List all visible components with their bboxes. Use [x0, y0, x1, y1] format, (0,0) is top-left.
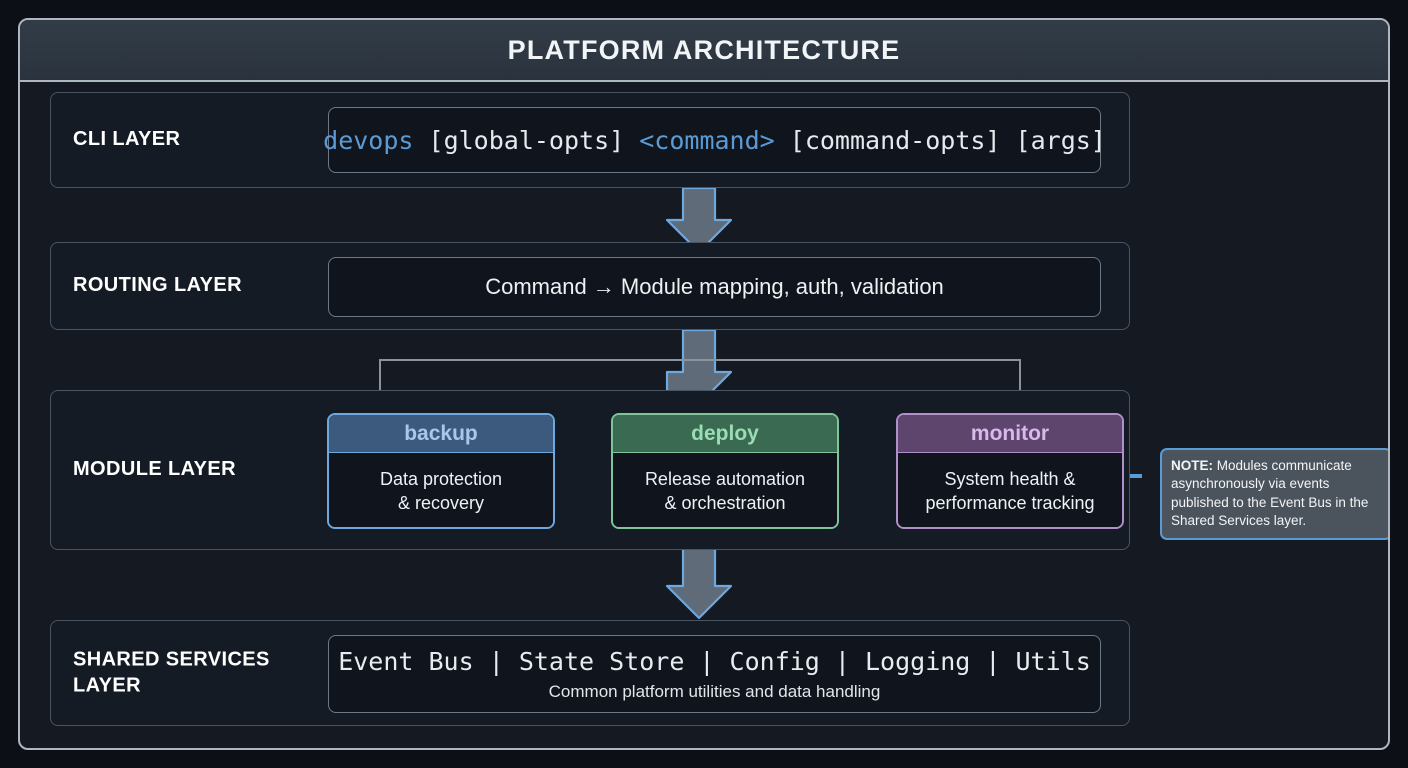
module-deploy-desc-line2: & orchestration: [664, 491, 785, 515]
module-deploy-body: Release automation & orchestration: [613, 453, 837, 529]
diagram-canvas: PLATFORM ARCHITECTURE: [0, 0, 1408, 768]
layer-cli: CLI LAYER devops [global-opts] <command>…: [50, 92, 1130, 188]
module-deploy-desc-line1: Release automation: [645, 467, 805, 491]
routing-description-box: Command → Module mapping, auth, validati…: [328, 257, 1101, 317]
module-backup[interactable]: backup Data protection & recovery: [327, 413, 555, 529]
module-monitor[interactable]: monitor System health & performance trac…: [896, 413, 1124, 529]
cli-token-command: <command>: [639, 126, 774, 155]
layer-shared-services: SHARED SERVICES LAYER Event Bus | State …: [50, 620, 1130, 726]
module-monitor-desc-line1: System health &: [944, 467, 1075, 491]
page-title-text: PLATFORM ARCHITECTURE: [508, 35, 901, 66]
cli-token-devops: devops: [323, 126, 413, 155]
cli-command-text: devops [global-opts] <command> [command-…: [323, 126, 1106, 155]
routing-description-text: Command → Module mapping, auth, validati…: [485, 274, 944, 300]
cli-token-global-opts: [global-opts]: [413, 126, 639, 155]
layer-module-label: MODULE LAYER: [73, 457, 313, 483]
module-deploy[interactable]: deploy Release automation & orchestratio…: [611, 413, 839, 529]
module-backup-desc-line1: Data protection: [380, 467, 502, 491]
cli-command-box: devops [global-opts] <command> [command-…: [328, 107, 1101, 173]
note-prefix: NOTE:: [1171, 458, 1213, 473]
module-monitor-body: System health & performance tracking: [898, 453, 1122, 529]
layer-routing: ROUTING LAYER Command → Module mapping, …: [50, 242, 1130, 330]
module-backup-desc-line2: & recovery: [398, 491, 484, 515]
layer-shared-services-label: SHARED SERVICES LAYER: [73, 647, 313, 698]
layer-cli-label: CLI LAYER: [73, 127, 313, 153]
shared-services-subtitle: Common platform utilities and data handl…: [549, 682, 881, 702]
note-callout: NOTE: Modules communicate asynchronously…: [1160, 448, 1390, 540]
module-deploy-title: deploy: [613, 415, 837, 453]
module-monitor-title: monitor: [898, 415, 1122, 453]
module-backup-body: Data protection & recovery: [329, 453, 553, 529]
layer-module: MODULE LAYER backup Data protection & re…: [50, 390, 1130, 550]
module-backup-title: backup: [329, 415, 553, 453]
module-monitor-desc-line2: performance tracking: [925, 491, 1094, 515]
page-title: PLATFORM ARCHITECTURE: [20, 20, 1388, 82]
layer-routing-label: ROUTING LAYER: [73, 273, 313, 299]
shared-services-box: Event Bus | State Store | Config | Loggi…: [328, 635, 1101, 713]
architecture-panel: PLATFORM ARCHITECTURE: [18, 18, 1390, 750]
shared-services-list: Event Bus | State Store | Config | Loggi…: [338, 647, 1091, 676]
cli-token-args: [command-opts] [args]: [775, 126, 1106, 155]
